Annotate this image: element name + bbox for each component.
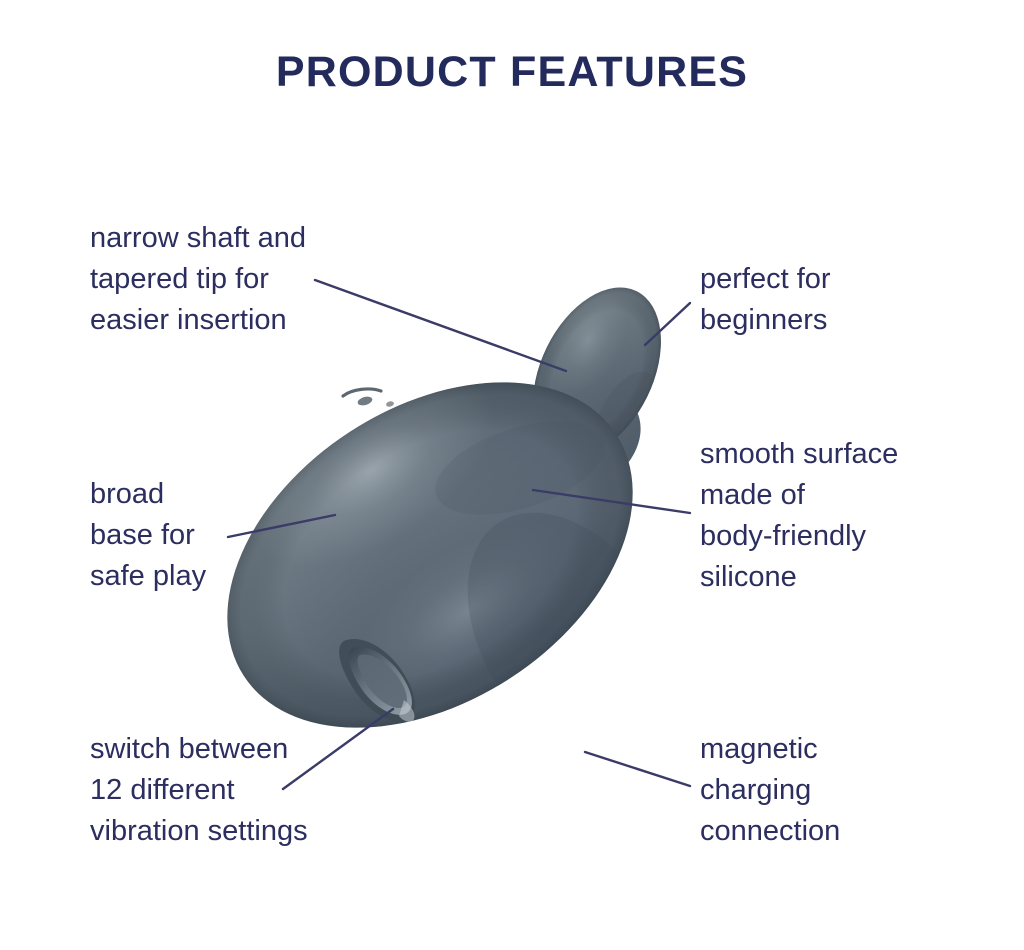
magnetic-charging-contacts [343, 389, 395, 408]
callout-switch-vibration: switch between 12 different vibration se… [90, 729, 390, 852]
callout-perfect-beginners: perfect for beginners [700, 259, 970, 341]
callout-magnetic-charging: magnetic charging connection [700, 729, 960, 852]
product-features-figure: PRODUCT FEATURES [0, 0, 1024, 950]
callout-broad-base: broad base for safe play [90, 474, 350, 597]
callout-smooth-surface: smooth surface made of body-friendly sil… [700, 434, 960, 598]
callout-narrow-shaft: narrow shaft and tapered tip for easier … [90, 218, 420, 341]
